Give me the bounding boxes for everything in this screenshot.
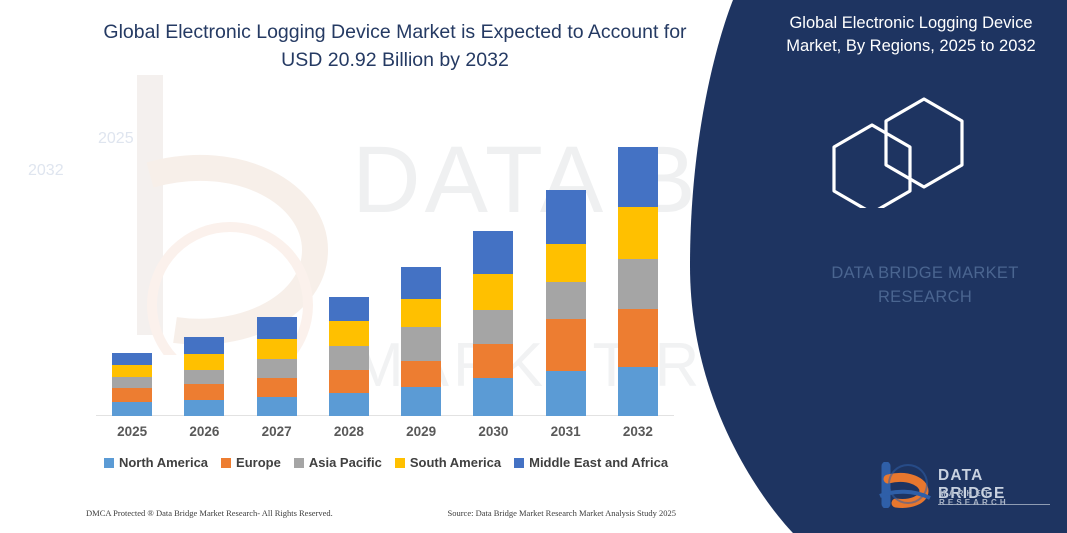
bar-2031[interactable] <box>546 190 586 416</box>
legend-item-asia-pacific[interactable]: Asia Pacific <box>294 455 382 470</box>
logo-subtitle: MARKET RESEARCH <box>939 489 1050 507</box>
segment-south-america-2029[interactable] <box>401 299 441 327</box>
legend-item-north-america[interactable]: North America <box>104 455 208 470</box>
x-label-2032: 2032 <box>602 424 674 439</box>
bar-2028[interactable] <box>329 297 369 416</box>
segment-europe-2031[interactable] <box>546 319 586 371</box>
segment-middle-east-and-africa-2027[interactable] <box>257 317 297 339</box>
bridge-mark-icon <box>878 462 934 508</box>
segment-europe-2030[interactable] <box>473 344 513 378</box>
hexagon-2025-shape <box>886 99 962 187</box>
segment-middle-east-and-africa-2032[interactable] <box>618 147 658 207</box>
segment-asia-pacific-2025[interactable] <box>112 377 152 388</box>
x-label-2030: 2030 <box>457 424 529 439</box>
stacked-bar-plot <box>96 120 674 416</box>
legend-label: Asia Pacific <box>309 455 382 470</box>
legend-swatch-icon <box>221 458 231 468</box>
brand-name-text: DATA BRIDGE MARKET RESEARCH <box>790 262 1060 310</box>
segment-south-america-2025[interactable] <box>112 365 152 377</box>
chart-pane: Global Electronic Logging Device Market … <box>0 0 740 533</box>
x-label-2028: 2028 <box>313 424 385 439</box>
segment-south-america-2028[interactable] <box>329 321 369 346</box>
bar-2025[interactable] <box>112 353 152 416</box>
x-label-2026: 2026 <box>168 424 240 439</box>
hexagon-2032-shape <box>834 125 910 208</box>
segment-europe-2029[interactable] <box>401 361 441 387</box>
segment-north-america-2028[interactable] <box>329 393 369 416</box>
segment-asia-pacific-2028[interactable] <box>329 346 369 370</box>
segment-europe-2026[interactable] <box>184 384 224 400</box>
bar-2027[interactable] <box>257 317 297 416</box>
segment-north-america-2026[interactable] <box>184 400 224 416</box>
segment-middle-east-and-africa-2031[interactable] <box>546 190 586 244</box>
segment-asia-pacific-2032[interactable] <box>618 259 658 309</box>
bar-2026[interactable] <box>184 337 224 416</box>
legend-label: South America <box>410 455 501 470</box>
legend-label: North America <box>119 455 208 470</box>
hexagon-2025-label: 2025 <box>98 130 134 148</box>
segment-europe-2027[interactable] <box>257 378 297 397</box>
segment-south-america-2031[interactable] <box>546 244 586 282</box>
segment-south-america-2030[interactable] <box>473 274 513 310</box>
x-label-2027: 2027 <box>241 424 313 439</box>
segment-south-america-2027[interactable] <box>257 339 297 359</box>
segment-north-america-2025[interactable] <box>112 402 152 416</box>
infographic-canvas: DATA BRIDGE MARKET RESEARCH Global Elect… <box>0 0 1067 533</box>
segment-north-america-2029[interactable] <box>401 387 441 416</box>
bar-2029[interactable] <box>401 267 441 416</box>
bar-2030[interactable] <box>473 231 513 416</box>
right-panel-title: Global Electronic Logging Device Market,… <box>762 12 1060 59</box>
segment-asia-pacific-2027[interactable] <box>257 359 297 378</box>
segment-middle-east-and-africa-2030[interactable] <box>473 231 513 274</box>
segment-europe-2032[interactable] <box>618 309 658 367</box>
company-logo: DATA BRIDGE MARKET RESEARCH <box>878 462 1050 510</box>
footer-source: Source: Data Bridge Market Research Mark… <box>447 508 676 518</box>
x-label-2029: 2029 <box>385 424 457 439</box>
segment-north-america-2032[interactable] <box>618 367 658 416</box>
segment-middle-east-and-africa-2029[interactable] <box>401 267 441 299</box>
segment-middle-east-and-africa-2028[interactable] <box>329 297 369 321</box>
x-axis-labels: 20252026202720282029203020312032 <box>96 424 674 444</box>
legend-swatch-icon <box>104 458 114 468</box>
segment-north-america-2030[interactable] <box>473 378 513 416</box>
segment-south-america-2026[interactable] <box>184 354 224 370</box>
hexagon-group <box>820 93 1000 208</box>
footer-copyright: DMCA Protected ® Data Bridge Market Rese… <box>86 508 333 518</box>
segment-south-america-2032[interactable] <box>618 207 658 259</box>
segment-asia-pacific-2029[interactable] <box>401 327 441 361</box>
footer-bar: DMCA Protected ® Data Bridge Market Rese… <box>86 508 676 518</box>
chart-title: Global Electronic Logging Device Market … <box>95 18 695 75</box>
segment-asia-pacific-2031[interactable] <box>546 282 586 319</box>
chart-legend: North AmericaEuropeAsia PacificSouth Ame… <box>96 455 676 470</box>
bar-2032[interactable] <box>618 147 658 416</box>
legend-label: Middle East and Africa <box>529 455 668 470</box>
segment-middle-east-and-africa-2026[interactable] <box>184 337 224 354</box>
segment-asia-pacific-2030[interactable] <box>473 310 513 344</box>
legend-item-europe[interactable]: Europe <box>221 455 281 470</box>
legend-swatch-icon <box>514 458 524 468</box>
legend-item-south-america[interactable]: South America <box>395 455 501 470</box>
segment-north-america-2027[interactable] <box>257 397 297 416</box>
segment-north-america-2031[interactable] <box>546 371 586 416</box>
legend-item-middle-east-and-africa[interactable]: Middle East and Africa <box>514 455 668 470</box>
x-label-2025: 2025 <box>96 424 168 439</box>
x-label-2031: 2031 <box>530 424 602 439</box>
segment-asia-pacific-2026[interactable] <box>184 370 224 384</box>
hexagon-2032-label: 2032 <box>28 162 64 180</box>
legend-swatch-icon <box>395 458 405 468</box>
legend-label: Europe <box>236 455 281 470</box>
segment-europe-2025[interactable] <box>112 388 152 402</box>
legend-swatch-icon <box>294 458 304 468</box>
segment-europe-2028[interactable] <box>329 370 369 393</box>
segment-middle-east-and-africa-2025[interactable] <box>112 353 152 365</box>
